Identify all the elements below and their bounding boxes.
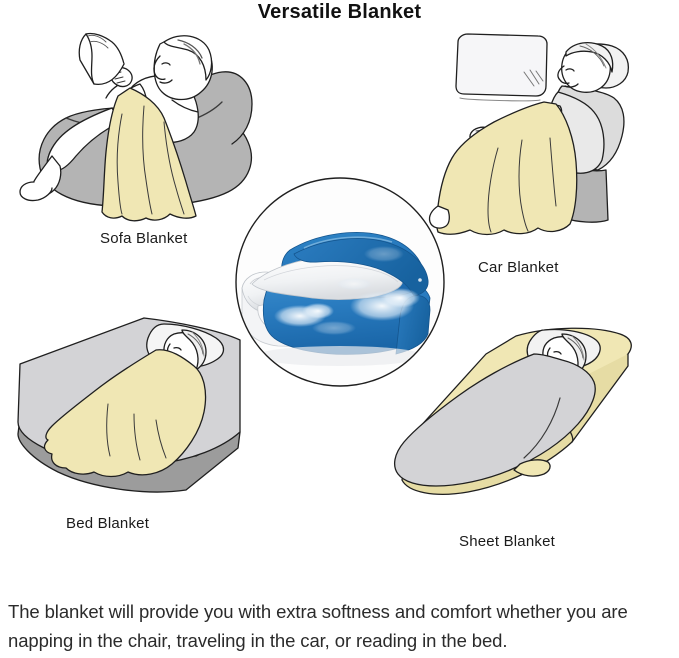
panel-label-car: Car Blanket	[478, 259, 559, 276]
product-caption: The blanket will provide you with extra …	[8, 597, 672, 655]
product-infographic: Versatile Blanket	[0, 0, 679, 658]
scene-bed-blanket	[0, 306, 256, 516]
panel-label-bed: Bed Blanket	[66, 515, 149, 532]
scene-car-blanket	[416, 24, 678, 264]
panel-label-sheet: Sheet Blanket	[459, 533, 555, 550]
page-title: Versatile Blanket	[0, 0, 679, 24]
panel-label-sofa: Sofa Blanket	[100, 230, 187, 247]
folded-blanket-photo	[234, 176, 446, 388]
